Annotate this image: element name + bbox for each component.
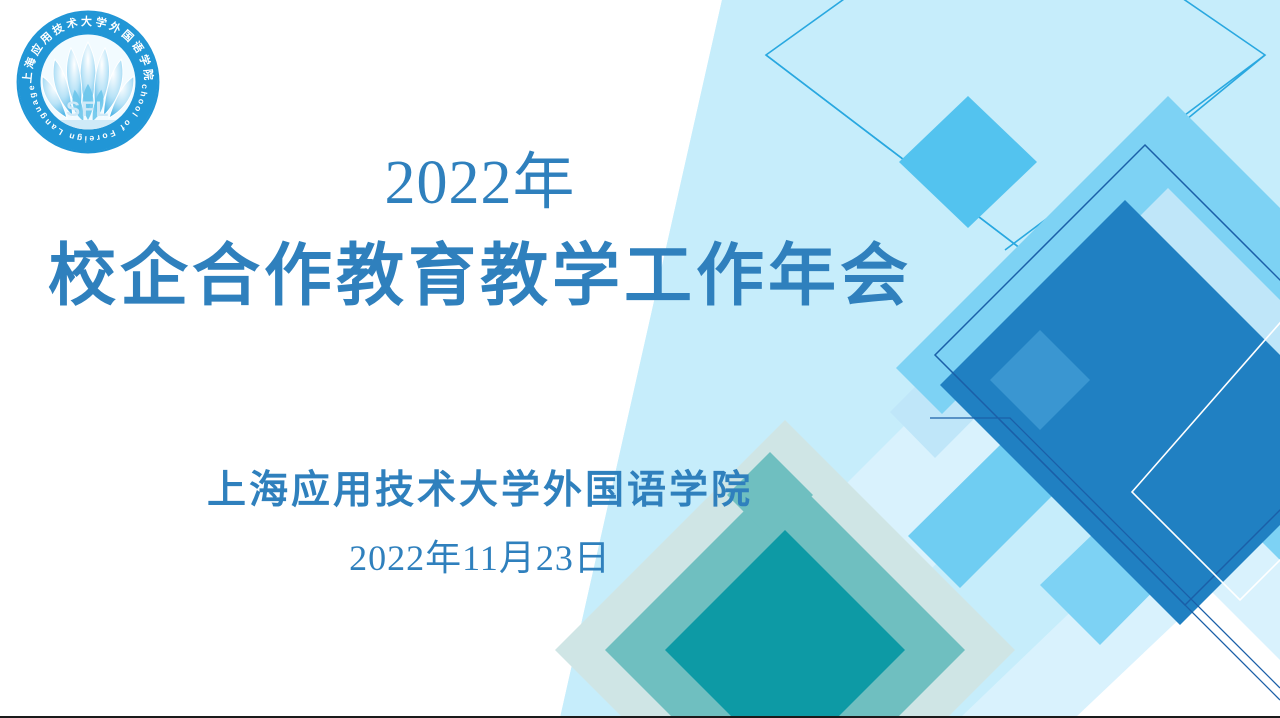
logo-sfl-text: SFL	[66, 98, 110, 121]
pale-band-topright	[560, 0, 1280, 718]
outlined-diamond-navy	[935, 145, 1280, 605]
sfl-logo: SFL 上海应用技术大学外国语学院 School of Foreign Lang…	[12, 6, 164, 158]
subtitle-block: 上海应用技术大学外国语学院 2022年11月23日	[0, 470, 960, 578]
chevron-band-mid	[908, 272, 1280, 588]
subtitle-organization: 上海应用技术大学外国语学院	[0, 470, 960, 513]
deep-blue-diamond	[940, 200, 1280, 625]
white-left-wedge	[0, 560, 560, 718]
title-block: 2022年 校企合作教育教学工作年会	[0, 152, 960, 316]
solid-diamond-fragment	[990, 330, 1090, 430]
chevron-band-bottom-pale	[960, 478, 1280, 718]
pale-diagonal-field	[350, 0, 1280, 718]
title-main: 校企合作教育教学工作年会	[0, 236, 960, 316]
title-slide: SFL 上海应用技术大学外国语学院 School of Foreign Lang…	[0, 0, 1280, 718]
chevron-band-bottom-mid	[1040, 400, 1280, 645]
decorative-background	[0, 0, 1280, 718]
subtitle-date: 2022年11月23日	[0, 539, 960, 579]
diagonal-line-navy	[930, 418, 1280, 688]
outlined-diamond-tail2	[1005, 55, 1265, 250]
outlined-diamond-white	[1132, 300, 1280, 600]
pale-band-main	[560, 0, 1280, 718]
diagonal-line-navy-2	[1000, 420, 1280, 700]
title-year: 2022年	[0, 152, 960, 214]
